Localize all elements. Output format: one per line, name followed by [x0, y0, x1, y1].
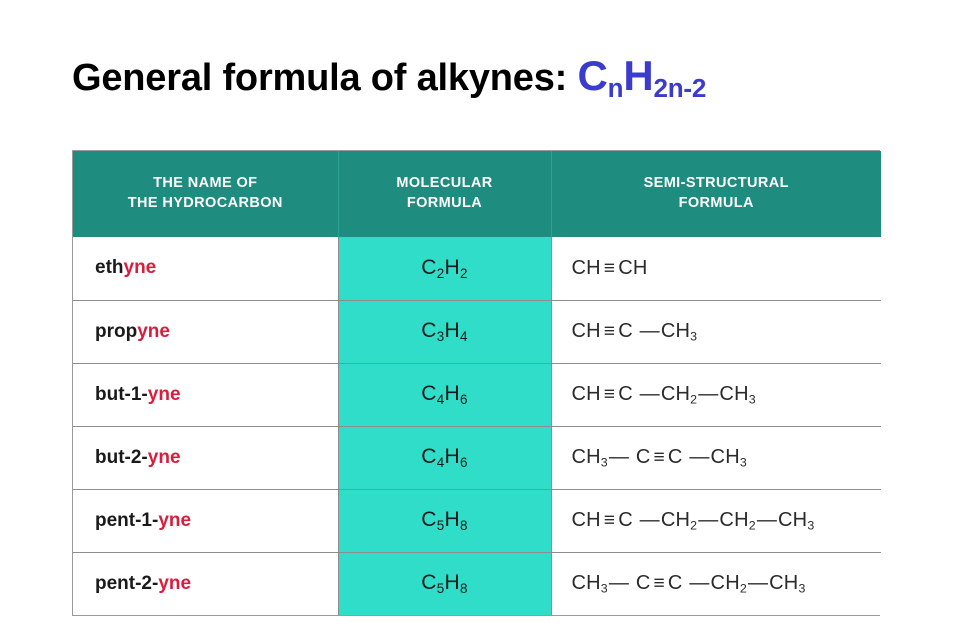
- table-row: but-2-yne C4H6 CH3— C≡C —CH3: [73, 426, 881, 489]
- table-row: but-1-yne C4H6 CH≡C —CH2—CH3: [73, 363, 881, 426]
- formula-carbon-subscript: n: [608, 73, 624, 103]
- mol-hydrogen-subscript: 8: [460, 518, 468, 533]
- formula-hydrogen-subscript: 2n-2: [653, 73, 706, 103]
- name-prefix: pent-1-: [95, 510, 158, 531]
- mol-hydrogen-subscript: 6: [460, 455, 468, 470]
- name-prefix: prop: [95, 321, 137, 342]
- cell-semi-structural-formula: CH3— C≡C —CH2—CH3: [551, 552, 881, 615]
- single-bond-icon: —: [633, 383, 661, 405]
- alkynes-table: THE NAME OF THE HYDROCARBON MOLECULAR FO…: [73, 151, 881, 615]
- mol-hydrogen-subscript: 8: [460, 581, 468, 596]
- cell-molecular-formula: C4H6: [338, 426, 551, 489]
- name-prefix: but-2-: [95, 447, 148, 468]
- column-header-molecular-line1: MOLECULAR: [396, 175, 492, 191]
- single-bond-icon: —: [756, 509, 778, 531]
- column-header-semistructural: SEMI-STRUCTURAL FORMULA: [551, 151, 881, 237]
- name-suffix: yne: [148, 447, 181, 468]
- single-bond-icon: —: [697, 383, 719, 405]
- cell-hydrocarbon-name: pent-1-yne: [73, 489, 338, 552]
- name-prefix: eth: [95, 257, 124, 278]
- name-suffix: yne: [158, 510, 191, 531]
- cell-molecular-formula: C5H8: [338, 552, 551, 615]
- mol-carbon-subscript: 4: [437, 392, 445, 407]
- cell-hydrocarbon-name: pent-2-yne: [73, 552, 338, 615]
- single-bond-icon: —: [697, 509, 719, 531]
- table-body: ethyne C2H2 CH≡CH propyne C3H4 CH≡C —CH3…: [73, 237, 881, 615]
- formula-carbon-symbol: C: [577, 52, 607, 99]
- cell-molecular-formula: C4H6: [338, 363, 551, 426]
- table-row: ethyne C2H2 CH≡CH: [73, 237, 881, 300]
- single-bond-icon: —: [747, 572, 769, 594]
- column-header-name-line2: THE HYDROCARBON: [128, 195, 283, 211]
- cell-semi-structural-formula: CH≡C —CH3: [551, 300, 881, 363]
- column-header-name-line1: THE NAME OF: [153, 175, 257, 191]
- cell-hydrocarbon-name: but-1-yne: [73, 363, 338, 426]
- alkynes-table-container: THE NAME OF THE HYDROCARBON MOLECULAR FO…: [72, 150, 880, 616]
- cell-semi-structural-formula: CH3— C≡C —CH3: [551, 426, 881, 489]
- cell-molecular-formula: C2H2: [338, 237, 551, 300]
- column-header-molecular: MOLECULAR FORMULA: [338, 151, 551, 237]
- triple-bond-icon: ≡: [601, 258, 618, 279]
- table-header-row: THE NAME OF THE HYDROCARBON MOLECULAR FO…: [73, 151, 881, 237]
- table-row: propyne C3H4 CH≡C —CH3: [73, 300, 881, 363]
- general-formula: CnH2n-2: [577, 52, 706, 99]
- cell-semi-structural-formula: CH≡CH: [551, 237, 881, 300]
- page-title: General formula of alkynes: CnH2n-2: [72, 53, 706, 102]
- table-row: pent-2-yne C5H8 CH3— C≡C —CH2—CH3: [73, 552, 881, 615]
- name-suffix: yne: [137, 321, 170, 342]
- slide-root: General formula of alkynes: CnH2n-2 THE …: [0, 0, 960, 629]
- single-bond-icon: —: [608, 572, 636, 594]
- name-suffix: yne: [124, 257, 157, 278]
- cell-semi-structural-formula: CH≡C —CH2—CH2—CH3: [551, 489, 881, 552]
- triple-bond-icon: ≡: [601, 384, 618, 405]
- mol-hydrogen-subscript: 4: [460, 329, 468, 344]
- mol-hydrogen-subscript: 2: [460, 266, 468, 281]
- formula-hydrogen-symbol: H: [623, 52, 653, 99]
- triple-bond-icon: ≡: [601, 321, 618, 342]
- triple-bond-icon: ≡: [651, 447, 668, 468]
- column-header-semistructural-line2: FORMULA: [679, 195, 754, 211]
- mol-carbon-subscript: 4: [437, 455, 445, 470]
- triple-bond-icon: ≡: [601, 510, 618, 531]
- single-bond-icon: —: [683, 572, 711, 594]
- name-prefix: but-1-: [95, 384, 148, 405]
- cell-hydrocarbon-name: but-2-yne: [73, 426, 338, 489]
- triple-bond-icon: ≡: [651, 573, 668, 594]
- single-bond-icon: —: [633, 509, 661, 531]
- mol-carbon-subscript: 5: [437, 518, 445, 533]
- page-title-text: General formula of alkynes:: [72, 57, 567, 99]
- column-header-molecular-line2: FORMULA: [407, 195, 482, 211]
- mol-carbon-subscript: 2: [437, 266, 445, 281]
- cell-hydrocarbon-name: propyne: [73, 300, 338, 363]
- single-bond-icon: —: [633, 320, 661, 342]
- cell-hydrocarbon-name: ethyne: [73, 237, 338, 300]
- column-header-semistructural-line1: SEMI-STRUCTURAL: [644, 175, 789, 191]
- name-suffix: yne: [148, 384, 181, 405]
- mol-carbon-subscript: 3: [437, 329, 445, 344]
- mol-carbon-subscript: 5: [437, 581, 445, 596]
- cell-molecular-formula: C5H8: [338, 489, 551, 552]
- table-row: pent-1-yne C5H8 CH≡C —CH2—CH2—CH3: [73, 489, 881, 552]
- mol-hydrogen-subscript: 6: [460, 392, 468, 407]
- single-bond-icon: —: [683, 446, 711, 468]
- cell-semi-structural-formula: CH≡C —CH2—CH3: [551, 363, 881, 426]
- name-suffix: yne: [158, 573, 191, 594]
- name-prefix: pent-2-: [95, 573, 158, 594]
- single-bond-icon: —: [608, 446, 636, 468]
- table-header: THE NAME OF THE HYDROCARBON MOLECULAR FO…: [73, 151, 881, 237]
- cell-molecular-formula: C3H4: [338, 300, 551, 363]
- column-header-name: THE NAME OF THE HYDROCARBON: [73, 151, 338, 237]
